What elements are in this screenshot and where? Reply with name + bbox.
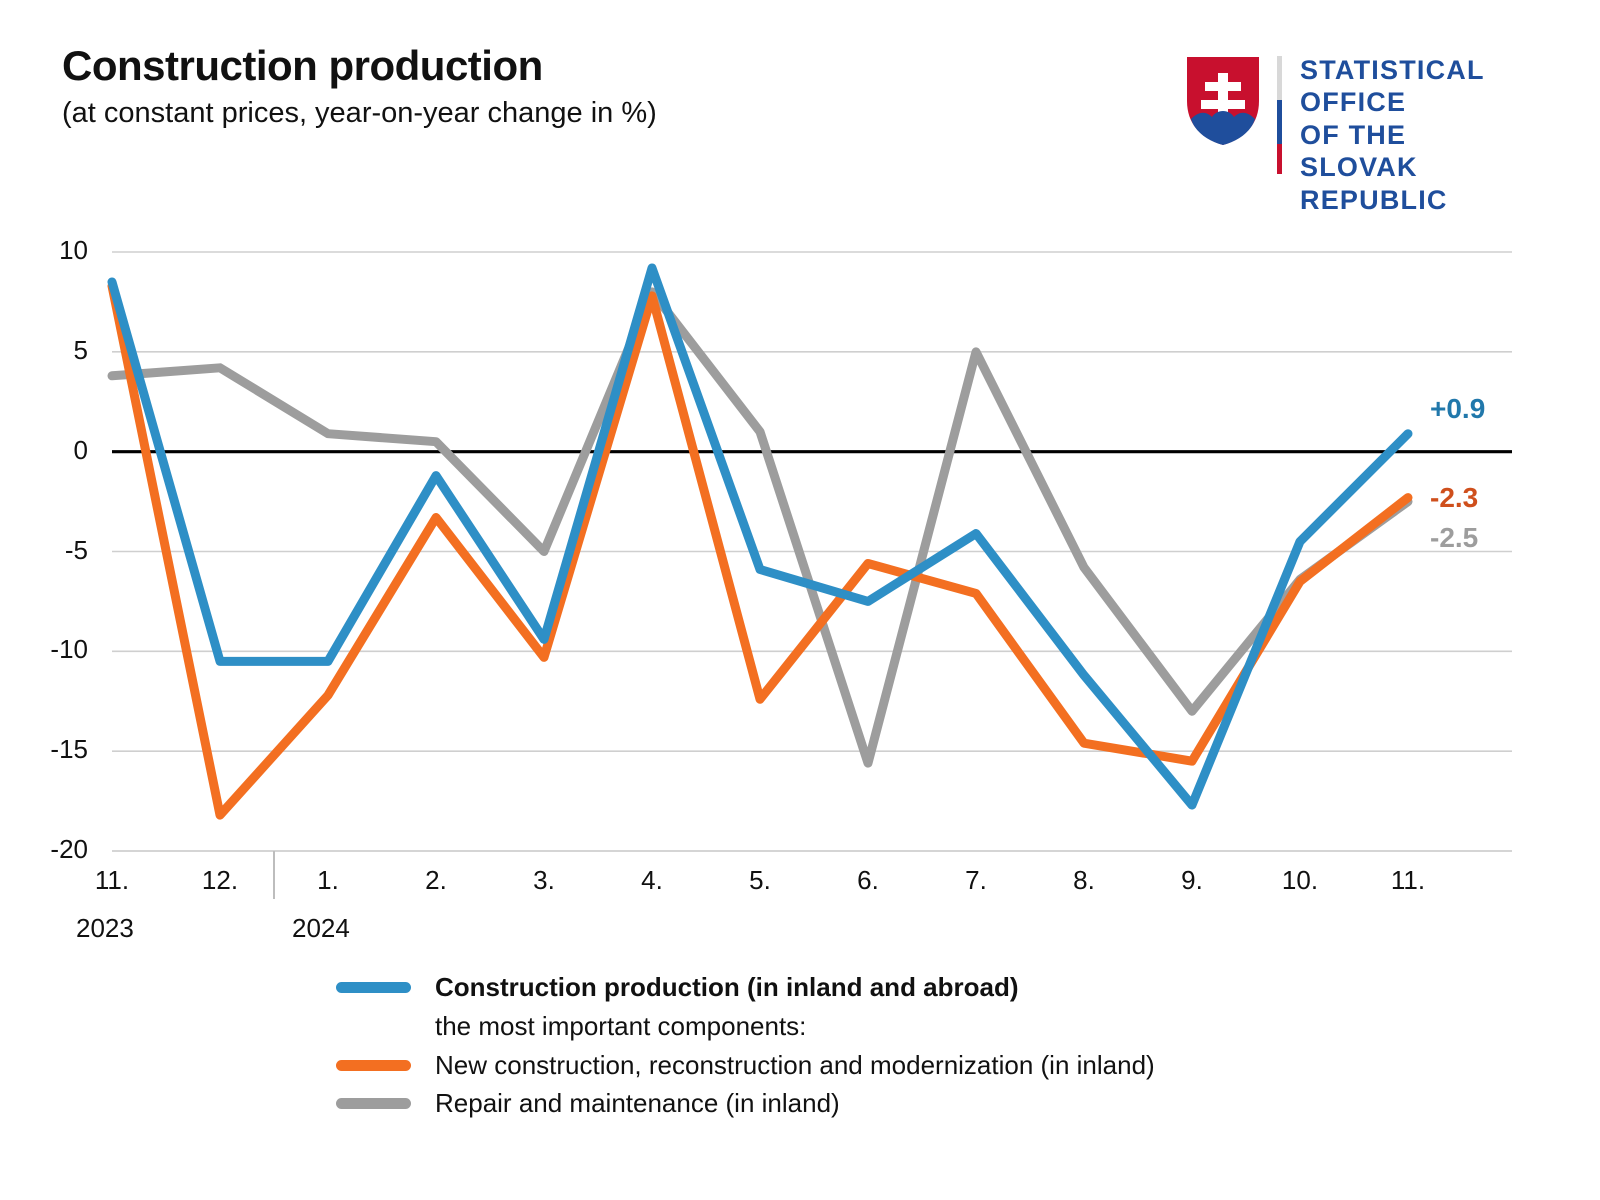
end-label-repair-maintenance: -2.5	[1430, 522, 1478, 554]
end-label-new-construction: -2.3	[1430, 482, 1478, 514]
x-axis-tick-9: 8.	[1044, 865, 1124, 896]
y-axis-tick--10: -10	[18, 634, 88, 665]
y-axis-tick--20: -20	[18, 834, 88, 865]
legend-swatch-gray	[336, 1098, 411, 1109]
y-axis-tick-10: 10	[18, 235, 88, 266]
x-axis-year-2023: 2023	[76, 913, 196, 944]
series-lines	[112, 268, 1408, 815]
legend-item-repair-maintenance[interactable]: Repair and maintenance (in inland)	[336, 1084, 1486, 1122]
y-axis-tick-5: 5	[18, 335, 88, 366]
y-axis-tick--15: -15	[18, 734, 88, 765]
x-axis-tick-6: 5.	[720, 865, 800, 896]
legend-item-construction-production[interactable]: Construction production (in inland and a…	[336, 968, 1486, 1006]
x-axis-tick-12: 11.	[1368, 865, 1448, 896]
legend-note: the most important components:	[435, 1006, 1486, 1046]
legend-item-new-construction[interactable]: New construction, reconstruction and mod…	[336, 1046, 1486, 1084]
x-axis-tick-4: 3.	[504, 865, 584, 896]
chart-legend: Construction production (in inland and a…	[336, 968, 1486, 1122]
gridlines	[112, 252, 1512, 851]
x-axis-tick-5: 4.	[612, 865, 692, 896]
x-axis-tick-11: 10.	[1260, 865, 1340, 896]
x-axis-tick-0: 11.	[72, 865, 152, 896]
legend-label-new-construction: New construction, reconstruction and mod…	[435, 1050, 1155, 1081]
x-axis-tick-10: 9.	[1152, 865, 1232, 896]
legend-label-repair-maintenance: Repair and maintenance (in inland)	[435, 1088, 840, 1119]
y-axis-tick-0: 0	[18, 435, 88, 466]
x-axis-tick-2: 1.	[288, 865, 368, 896]
x-axis-tick-1: 12.	[180, 865, 260, 896]
y-axis-tick--5: -5	[18, 535, 88, 566]
legend-swatch-blue	[336, 982, 411, 993]
series-line-1	[112, 286, 1408, 815]
x-axis-tick-8: 7.	[936, 865, 1016, 896]
legend-label-construction-production: Construction production (in inland and a…	[435, 972, 1019, 1003]
x-axis-tick-7: 6.	[828, 865, 908, 896]
x-axis-tick-3: 2.	[396, 865, 476, 896]
legend-swatch-orange	[336, 1060, 411, 1071]
x-axis-year-2024: 2024	[292, 913, 412, 944]
end-label-construction-production: +0.9	[1430, 393, 1485, 425]
